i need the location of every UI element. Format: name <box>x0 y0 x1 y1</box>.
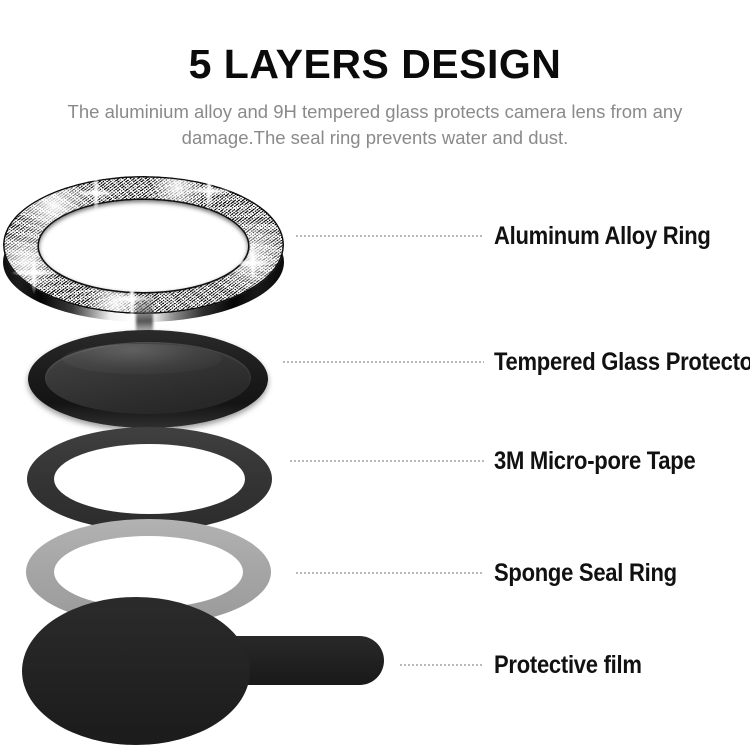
leader-line-protective-film <box>400 664 484 666</box>
leader-line-tempered-glass-protector <box>283 361 484 363</box>
aluminum-ring-aperture <box>39 200 248 292</box>
label-sponge-seal-ring: Sponge Seal Ring <box>494 559 677 588</box>
leader-line-micro-pore-tape <box>290 460 484 462</box>
layer-aluminum-alloy-ring <box>3 176 284 324</box>
tempered-glass-highlight <box>62 344 222 374</box>
layer-micro-pore-tape <box>27 427 272 531</box>
layer-tempered-glass-protector <box>28 330 268 428</box>
protective-film-disc <box>22 597 250 745</box>
leader-line-aluminum-alloy-ring <box>296 235 484 237</box>
micro-pore-tape-aperture <box>54 444 245 514</box>
infographic-page: 5 LAYERS DESIGN The aluminium alloy and … <box>0 0 750 750</box>
label-micro-pore-tape: 3M Micro-pore Tape <box>494 447 695 476</box>
label-aluminum-alloy-ring: Aluminum Alloy Ring <box>494 222 711 251</box>
label-protective-film: Protective film <box>494 651 642 680</box>
layer-protective-film <box>22 597 384 745</box>
leader-line-sponge-seal-ring <box>296 572 484 574</box>
label-tempered-glass-protector: Tempered Glass Protector <box>494 348 750 377</box>
